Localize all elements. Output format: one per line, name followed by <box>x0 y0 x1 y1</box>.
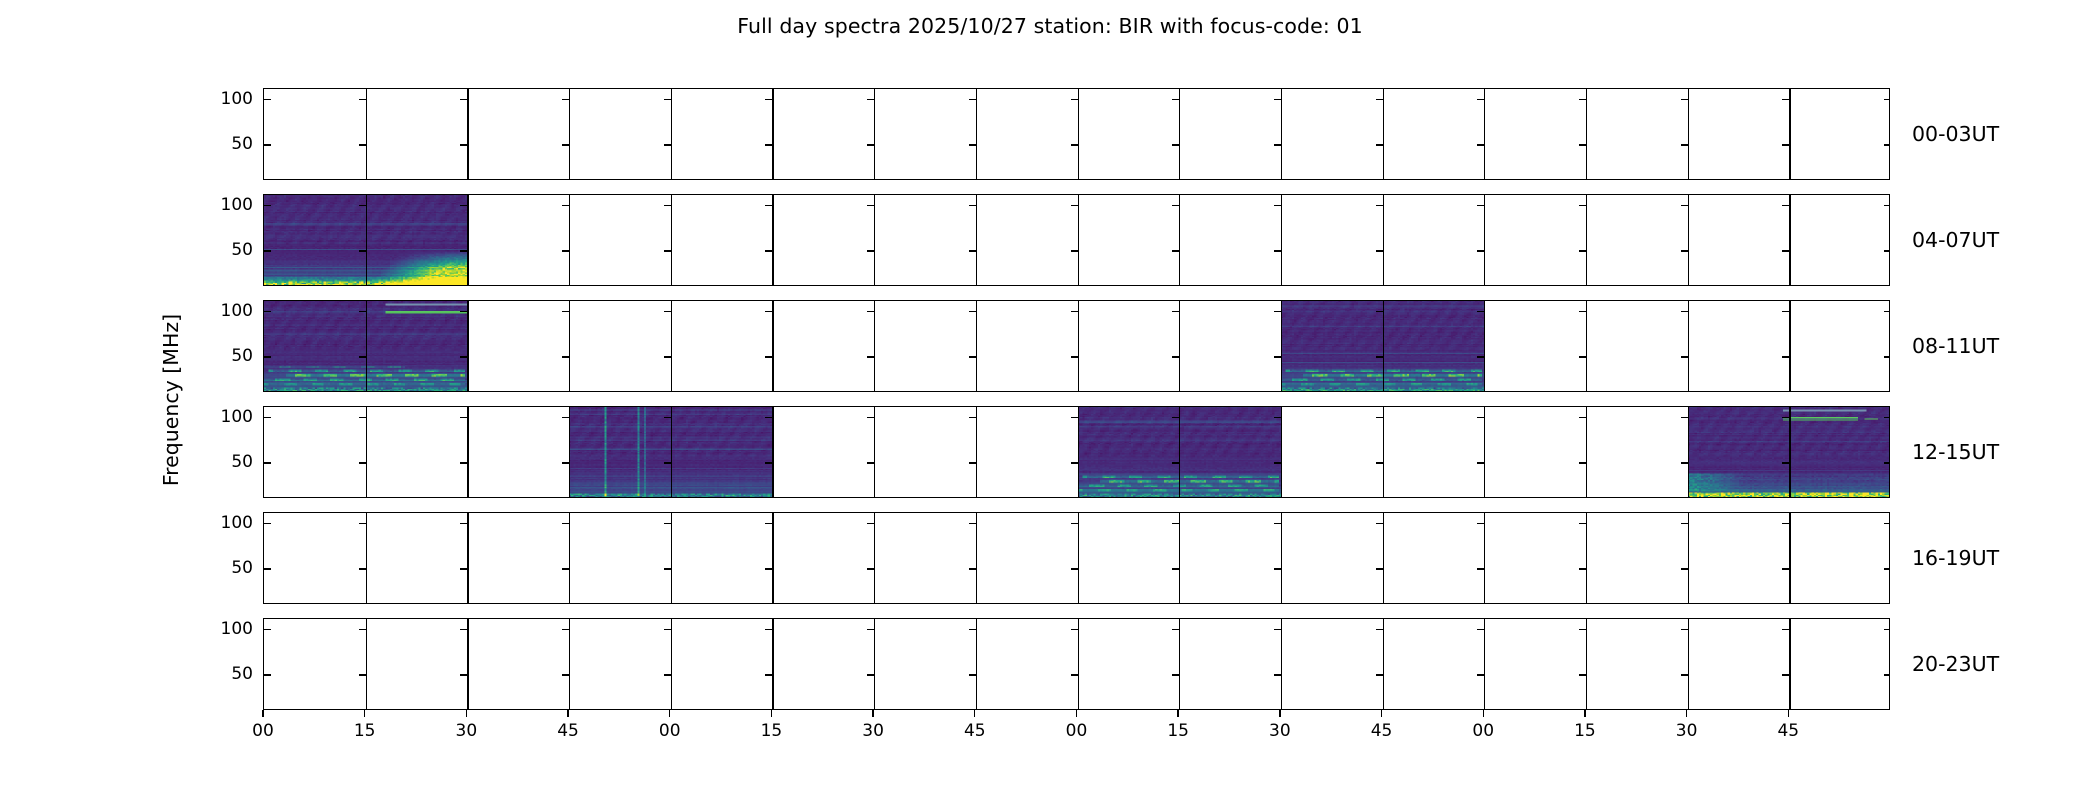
y-tick-mark <box>969 99 976 100</box>
y-tick-mark <box>460 144 467 145</box>
spectrogram-panel-16-19ut[interactable] <box>263 512 1890 604</box>
y-tick-mark <box>1579 311 1586 312</box>
y-tick-mark <box>1681 629 1688 630</box>
y-tick-mark <box>867 629 874 630</box>
x-tick-mark <box>364 710 365 717</box>
spectrogram-panel-00-03ut[interactable] <box>263 88 1890 180</box>
panel-plot-area <box>264 195 1889 285</box>
y-tick-mark <box>867 311 874 312</box>
y-tick-mark <box>1579 462 1586 463</box>
y-tick-mark <box>765 311 772 312</box>
y-tick-mark <box>1681 462 1688 463</box>
x-tick-mark <box>872 710 873 717</box>
panel-gridline <box>1383 619 1384 709</box>
x-tick-label: 45 <box>964 721 986 741</box>
panel-gridline <box>874 89 875 179</box>
y-tick-mark <box>562 205 569 206</box>
panel-gridline <box>1789 89 1790 179</box>
panel-gridline <box>1383 301 1384 391</box>
panel-gridline <box>1078 195 1080 285</box>
y-tick-mark <box>1172 205 1179 206</box>
y-tick-label: 100 <box>193 301 253 321</box>
y-tick-mark <box>1071 462 1078 463</box>
y-tick-mark <box>1477 674 1484 675</box>
panel-gridline <box>1586 407 1587 497</box>
y-tick-mark <box>562 250 569 251</box>
y-tick-mark <box>1274 523 1281 524</box>
y-tick-mark <box>765 205 772 206</box>
y-tick-mark <box>1681 311 1688 312</box>
y-tick-mark <box>867 205 874 206</box>
panel-gridline <box>1078 301 1080 391</box>
panel-gridline <box>1383 407 1384 497</box>
row-label-00-03ut: 00-03UT <box>1912 122 1999 146</box>
panel-gridline <box>976 407 977 497</box>
x-tick-mark <box>567 710 568 717</box>
y-tick-mark <box>1376 674 1383 675</box>
panel-gridline <box>874 301 875 391</box>
y-tick-mark <box>460 99 467 100</box>
x-tick-mark <box>262 710 263 717</box>
panel-gridline <box>1586 301 1587 391</box>
y-tick-mark <box>1172 311 1179 312</box>
y-tick-mark <box>969 311 976 312</box>
panel-gridline <box>467 195 468 285</box>
y-tick-mark <box>664 144 671 145</box>
y-tick-mark <box>1376 417 1383 418</box>
x-tick-label: 30 <box>1676 721 1698 741</box>
y-tick-mark <box>969 356 976 357</box>
panel-gridline <box>1383 513 1384 603</box>
panel-gridline <box>1789 301 1790 391</box>
row-label-16-19ut: 16-19UT <box>1912 546 1999 570</box>
y-tick-mark <box>264 523 271 524</box>
y-tick-mark <box>1477 629 1484 630</box>
y-tick-mark <box>1884 99 1890 100</box>
y-tick-mark <box>1477 523 1484 524</box>
y-tick-mark <box>1172 99 1179 100</box>
y-tick-mark <box>1071 99 1078 100</box>
y-tick-mark <box>765 629 772 630</box>
panel-gridline <box>1281 301 1282 391</box>
y-tick-mark <box>664 568 671 569</box>
y-tick-mark <box>1376 99 1383 100</box>
y-tick-label: 100 <box>193 89 253 109</box>
y-tick-mark <box>1579 568 1586 569</box>
y-tick-mark <box>1274 356 1281 357</box>
y-tick-mark <box>1274 629 1281 630</box>
y-tick-mark <box>562 674 569 675</box>
panel-gridline <box>1484 513 1485 603</box>
row-label-04-07ut: 04-07UT <box>1912 228 1999 252</box>
y-tick-mark <box>1579 356 1586 357</box>
y-tick-mark <box>765 144 772 145</box>
y-tick-mark <box>664 629 671 630</box>
y-tick-mark <box>1477 205 1484 206</box>
y-tick-mark <box>765 462 772 463</box>
panel-gridline <box>1281 407 1282 497</box>
y-tick-mark <box>264 205 271 206</box>
panel-gridline <box>772 513 773 603</box>
y-tick-mark <box>359 674 366 675</box>
row-label-20-23ut: 20-23UT <box>1912 652 1999 676</box>
y-tick-mark <box>1681 523 1688 524</box>
y-tick-mark <box>562 144 569 145</box>
panel-gridline <box>1688 619 1689 709</box>
panel-gridline <box>1688 195 1689 285</box>
y-tick-mark <box>1172 523 1179 524</box>
y-tick-mark <box>867 250 874 251</box>
y-tick-mark <box>664 674 671 675</box>
panel-gridline <box>1383 89 1384 179</box>
panel-gridline <box>1078 513 1080 603</box>
x-tick-mark <box>1788 710 1789 717</box>
y-tick-label: 50 <box>193 134 253 154</box>
y-tick-mark <box>1884 311 1890 312</box>
y-tick-mark <box>1172 629 1179 630</box>
spectrogram-panel-12-15ut[interactable] <box>263 406 1890 498</box>
panel-gridline <box>366 513 367 603</box>
y-tick-mark <box>1274 568 1281 569</box>
y-tick-mark <box>1782 144 1789 145</box>
y-tick-label: 100 <box>193 619 253 639</box>
x-tick-label: 15 <box>761 721 783 741</box>
y-tick-mark <box>969 462 976 463</box>
y-tick-mark <box>1681 250 1688 251</box>
y-tick-mark <box>664 417 671 418</box>
panel-gridline <box>1789 513 1790 603</box>
panel-gridline <box>467 89 468 179</box>
x-tick-label: 00 <box>1066 721 1088 741</box>
panel-gridline <box>569 195 570 285</box>
y-tick-mark <box>765 356 772 357</box>
x-tick-label: 00 <box>252 721 274 741</box>
y-tick-mark <box>969 417 976 418</box>
x-tick-label: 30 <box>456 721 478 741</box>
panel-gridline <box>467 301 468 391</box>
y-tick-mark <box>867 144 874 145</box>
x-tick-mark <box>771 710 772 717</box>
panel-gridline <box>1688 513 1689 603</box>
spectrogram-panel-04-07ut[interactable] <box>263 194 1890 286</box>
panel-gridline <box>976 195 977 285</box>
y-tick-mark <box>1884 629 1890 630</box>
y-tick-mark <box>1172 356 1179 357</box>
y-tick-mark <box>460 356 467 357</box>
y-tick-mark <box>867 568 874 569</box>
y-tick-mark <box>359 250 366 251</box>
y-tick-mark <box>1376 462 1383 463</box>
y-tick-mark <box>359 629 366 630</box>
panel-gridline <box>1789 619 1790 709</box>
y-tick-mark <box>460 462 467 463</box>
x-tick-label: 45 <box>1777 721 1799 741</box>
y-tick-mark <box>1884 205 1890 206</box>
panel-gridline <box>1281 89 1282 179</box>
y-tick-mark <box>1782 311 1789 312</box>
y-tick-mark <box>359 99 366 100</box>
y-tick-mark <box>1376 311 1383 312</box>
y-tick-mark <box>765 99 772 100</box>
x-tick-mark <box>466 710 467 717</box>
y-tick-mark <box>1681 356 1688 357</box>
y-tick-mark <box>562 311 569 312</box>
y-tick-label: 100 <box>193 513 253 533</box>
panel-gridline <box>1383 195 1384 285</box>
y-tick-mark <box>264 629 271 630</box>
y-tick-mark <box>969 629 976 630</box>
y-tick-mark <box>664 250 671 251</box>
y-tick-mark <box>664 205 671 206</box>
y-tick-mark <box>1782 205 1789 206</box>
y-tick-mark <box>359 417 366 418</box>
y-tick-mark <box>1274 99 1281 100</box>
y-tick-mark <box>359 523 366 524</box>
y-tick-mark <box>867 462 874 463</box>
y-tick-mark <box>264 311 271 312</box>
y-tick-mark <box>1477 417 1484 418</box>
y-tick-mark <box>1071 205 1078 206</box>
y-tick-mark <box>1477 311 1484 312</box>
y-tick-mark <box>1172 462 1179 463</box>
y-tick-mark <box>664 311 671 312</box>
y-tick-mark <box>1376 356 1383 357</box>
y-tick-mark <box>264 568 271 569</box>
panel-gridline <box>1179 407 1180 497</box>
y-tick-mark <box>1376 523 1383 524</box>
panel-gridline <box>671 89 672 179</box>
x-tick-mark <box>669 710 670 717</box>
y-tick-mark <box>359 356 366 357</box>
panel-gridline <box>1179 301 1180 391</box>
row-label-08-11ut: 08-11UT <box>1912 334 1999 358</box>
x-tick-mark <box>974 710 975 717</box>
panel-plot-area <box>264 513 1889 603</box>
y-tick-mark <box>1782 250 1789 251</box>
y-tick-mark <box>1477 250 1484 251</box>
panel-gridline <box>772 195 773 285</box>
y-tick-mark <box>1376 250 1383 251</box>
y-tick-mark <box>1579 144 1586 145</box>
y-tick-mark <box>867 356 874 357</box>
x-tick-label: 00 <box>659 721 681 741</box>
panel-gridline <box>1179 513 1180 603</box>
y-tick-mark <box>1477 99 1484 100</box>
y-axis-label: Frequency [MHz] <box>159 314 183 486</box>
y-tick-mark <box>664 99 671 100</box>
y-tick-mark <box>1884 417 1890 418</box>
panel-gridline <box>1078 89 1080 179</box>
y-tick-label: 50 <box>193 240 253 260</box>
x-tick-mark <box>1177 710 1178 717</box>
y-tick-mark <box>460 523 467 524</box>
y-tick-mark <box>1681 417 1688 418</box>
y-tick-mark <box>1579 417 1586 418</box>
y-tick-label: 50 <box>193 346 253 366</box>
figure-canvas: Full day spectra 2025/10/27 station: BIR… <box>0 0 2100 800</box>
y-tick-label: 50 <box>193 664 253 684</box>
y-tick-mark <box>1884 144 1890 145</box>
panel-gridline <box>1586 513 1587 603</box>
y-tick-mark <box>562 417 569 418</box>
y-tick-mark <box>1172 568 1179 569</box>
panel-gridline <box>1688 407 1689 497</box>
panel-plot-area <box>264 301 1889 391</box>
y-tick-mark <box>1782 356 1789 357</box>
panel-gridline <box>366 89 367 179</box>
panel-gridline <box>467 513 468 603</box>
y-tick-mark <box>359 462 366 463</box>
panel-gridline <box>976 301 977 391</box>
y-tick-mark <box>1681 205 1688 206</box>
y-tick-mark <box>1274 417 1281 418</box>
panel-gridline <box>874 195 875 285</box>
y-tick-mark <box>1681 144 1688 145</box>
spectrogram-panel-08-11ut[interactable] <box>263 300 1890 392</box>
y-tick-mark <box>1071 629 1078 630</box>
panel-gridline <box>1484 619 1485 709</box>
y-tick-mark <box>1172 674 1179 675</box>
y-tick-label: 100 <box>193 407 253 427</box>
y-tick-mark <box>969 205 976 206</box>
y-tick-mark <box>1477 568 1484 569</box>
panel-gridline <box>1484 89 1485 179</box>
y-tick-mark <box>1681 674 1688 675</box>
panel-gridline <box>1484 195 1485 285</box>
panel-gridline <box>1688 301 1689 391</box>
panel-gridline <box>366 301 367 391</box>
x-tick-mark <box>1279 710 1280 717</box>
y-tick-mark <box>1884 462 1890 463</box>
y-tick-mark <box>460 250 467 251</box>
y-tick-mark <box>1782 99 1789 100</box>
x-tick-mark <box>1483 710 1484 717</box>
y-tick-mark <box>264 356 271 357</box>
panel-gridline <box>671 407 672 497</box>
panel-gridline <box>1179 195 1180 285</box>
panel-gridline <box>671 513 672 603</box>
panel-gridline <box>671 301 672 391</box>
y-tick-mark <box>1071 523 1078 524</box>
panel-gridline <box>1078 407 1080 497</box>
panel-gridline <box>874 619 875 709</box>
y-tick-mark <box>562 523 569 524</box>
panel-gridline <box>1281 195 1282 285</box>
y-tick-mark <box>1376 629 1383 630</box>
figure-title: Full day spectra 2025/10/27 station: BIR… <box>0 14 2100 38</box>
panel-gridline <box>1789 407 1790 497</box>
y-tick-mark <box>359 311 366 312</box>
x-tick-mark <box>1686 710 1687 717</box>
x-tick-label: 45 <box>1371 721 1393 741</box>
y-tick-mark <box>460 417 467 418</box>
x-tick-label: 30 <box>1269 721 1291 741</box>
y-tick-mark <box>1274 462 1281 463</box>
panel-gridline <box>1688 89 1689 179</box>
x-tick-label: 15 <box>1574 721 1596 741</box>
y-tick-mark <box>460 674 467 675</box>
x-tick-label: 15 <box>1167 721 1189 741</box>
x-tick-mark <box>1381 710 1382 717</box>
panel-gridline <box>772 619 773 709</box>
y-tick-mark <box>765 674 772 675</box>
y-tick-mark <box>1681 568 1688 569</box>
y-tick-mark <box>1376 144 1383 145</box>
y-tick-mark <box>664 356 671 357</box>
panel-gridline <box>976 89 977 179</box>
panel-gridline <box>366 195 367 285</box>
panel-gridline <box>1484 301 1485 391</box>
y-tick-mark <box>1782 629 1789 630</box>
y-tick-mark <box>1071 311 1078 312</box>
panel-gridline <box>1281 619 1282 709</box>
y-tick-mark <box>359 144 366 145</box>
y-tick-mark <box>765 250 772 251</box>
panel-gridline <box>772 407 773 497</box>
y-tick-mark <box>1274 205 1281 206</box>
y-tick-mark <box>1071 568 1078 569</box>
panel-gridline <box>569 619 570 709</box>
panel-gridline <box>1586 619 1587 709</box>
y-tick-mark <box>867 99 874 100</box>
row-label-12-15ut: 12-15UT <box>1912 440 1999 464</box>
y-tick-mark <box>1782 417 1789 418</box>
panel-gridline <box>569 513 570 603</box>
y-tick-mark <box>1681 99 1688 100</box>
y-tick-mark <box>1477 144 1484 145</box>
y-tick-label: 100 <box>193 195 253 215</box>
panel-plot-area <box>264 89 1889 179</box>
y-tick-mark <box>867 523 874 524</box>
x-tick-label: 45 <box>557 721 579 741</box>
y-tick-mark <box>1579 99 1586 100</box>
y-tick-mark <box>359 568 366 569</box>
y-tick-mark <box>562 568 569 569</box>
panel-gridline <box>1789 195 1790 285</box>
panel-gridline <box>366 407 367 497</box>
y-tick-mark <box>1579 629 1586 630</box>
y-tick-mark <box>1071 674 1078 675</box>
y-tick-mark <box>1274 250 1281 251</box>
y-tick-mark <box>1884 523 1890 524</box>
panel-gridline <box>1179 89 1180 179</box>
spectrogram-panel-20-23ut[interactable] <box>263 618 1890 710</box>
y-tick-mark <box>1782 523 1789 524</box>
y-tick-mark <box>664 523 671 524</box>
y-tick-mark <box>264 674 271 675</box>
y-tick-mark <box>1172 250 1179 251</box>
x-tick-label: 30 <box>862 721 884 741</box>
y-tick-mark <box>562 356 569 357</box>
y-tick-mark <box>1071 250 1078 251</box>
y-tick-mark <box>1071 144 1078 145</box>
y-tick-mark <box>264 99 271 100</box>
y-tick-mark <box>264 462 271 463</box>
panel-gridline <box>467 619 468 709</box>
x-tick-mark <box>1076 710 1077 717</box>
panel-gridline <box>976 513 977 603</box>
y-tick-mark <box>969 674 976 675</box>
y-tick-mark <box>1579 250 1586 251</box>
y-tick-mark <box>1376 568 1383 569</box>
y-tick-mark <box>1274 311 1281 312</box>
panel-gridline <box>874 407 875 497</box>
y-tick-mark <box>264 144 271 145</box>
y-tick-mark <box>359 205 366 206</box>
panel-gridline <box>874 513 875 603</box>
y-tick-mark <box>765 523 772 524</box>
y-tick-mark <box>1477 462 1484 463</box>
